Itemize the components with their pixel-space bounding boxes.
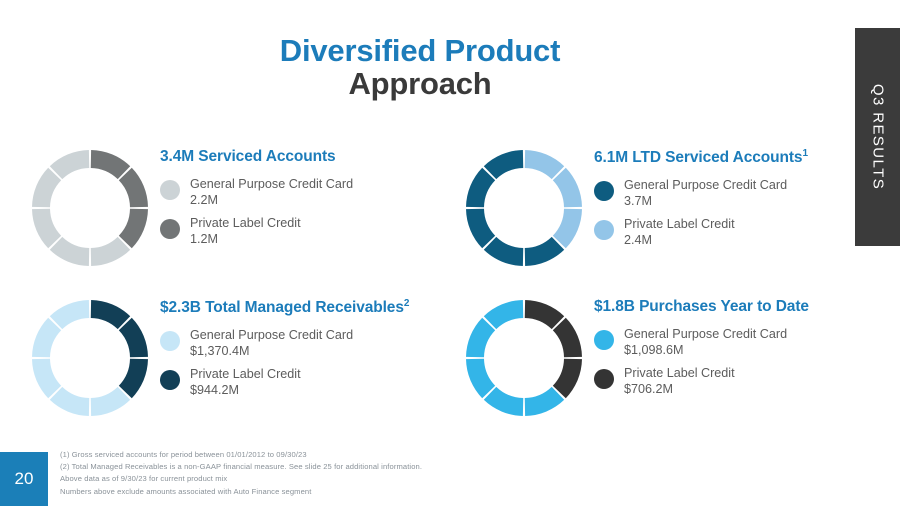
- legend-item: General Purpose Credit Card$1,098.6M: [594, 326, 809, 358]
- donut-segment: [32, 318, 61, 357]
- legend-swatch-icon: [160, 180, 180, 200]
- legend-item: General Purpose Credit Card2.2M: [160, 176, 353, 208]
- legend-item: General Purpose Credit Card3.7M: [594, 177, 808, 209]
- donut-segment: [466, 359, 495, 398]
- footnote-line: (1) Gross serviced accounts for period b…: [60, 449, 422, 461]
- legend-category-label: Private Label Credit: [624, 216, 735, 232]
- legend-text: General Purpose Credit Card$1,370.4M: [190, 327, 353, 359]
- donut-segment: [119, 209, 148, 248]
- legend-category-label: General Purpose Credit Card: [190, 327, 353, 343]
- chart-block-total-managed-receivables: $2.3B Total Managed Receivables2General …: [28, 296, 409, 420]
- legend-text: Private Label Credit2.4M: [624, 216, 735, 248]
- legend-category-label: General Purpose Credit Card: [624, 326, 787, 342]
- legend-swatch-icon: [594, 220, 614, 240]
- donut-segment: [50, 300, 89, 329]
- chart-block-serviced-accounts: 3.4M Serviced AccountsGeneral Purpose Cr…: [28, 146, 353, 270]
- legend-item: Private Label Credit$706.2M: [594, 365, 809, 397]
- chart-heading: $2.3B Total Managed Receivables2: [160, 298, 409, 317]
- donut-segment: [525, 237, 564, 266]
- donut-segment: [553, 359, 582, 398]
- donut-segment: [119, 318, 148, 357]
- footnote-line: Above data as of 9/30/23 for current pro…: [60, 473, 422, 485]
- donut-chart: [462, 296, 586, 420]
- legend-swatch-icon: [160, 331, 180, 351]
- page-number-label: 20: [15, 469, 34, 489]
- legend-value-label: $944.2M: [190, 382, 301, 398]
- donut-segment: [91, 150, 130, 179]
- donut-segment: [525, 300, 564, 329]
- legend-text: General Purpose Credit Card$1,098.6M: [624, 326, 787, 358]
- donut-segment: [91, 387, 130, 416]
- donut-segment: [484, 387, 523, 416]
- legend-value-label: 1.2M: [190, 231, 301, 247]
- donut-chart-wrapper: [28, 296, 152, 420]
- donut-segment: [32, 168, 61, 207]
- legend-text: Private Label Credit$706.2M: [624, 365, 735, 397]
- donut-chart: [28, 296, 152, 420]
- donut-segment: [466, 318, 495, 357]
- chart-heading-footnote-marker: 2: [404, 298, 409, 309]
- chart-heading: 3.4M Serviced Accounts: [160, 148, 353, 166]
- legend-text: General Purpose Credit Card2.2M: [190, 176, 353, 208]
- donut-segment: [553, 168, 582, 207]
- donut-segment: [119, 168, 148, 207]
- chart-info: $2.3B Total Managed Receivables2General …: [160, 296, 409, 406]
- legend-value-label: 2.4M: [624, 232, 735, 248]
- donut-segment: [484, 150, 523, 179]
- legend-item: General Purpose Credit Card$1,370.4M: [160, 327, 409, 359]
- donut-segment: [91, 237, 130, 266]
- legend-text: Private Label Credit$944.2M: [190, 366, 301, 398]
- donut-chart: [28, 146, 152, 270]
- legend-item: Private Label Credit2.4M: [594, 216, 808, 248]
- section-tab-q3-results: Q3 RESULTS: [855, 28, 900, 246]
- chart-block-purchases-ytd: $1.8B Purchases Year to DateGeneral Purp…: [462, 296, 809, 420]
- legend-item: Private Label Credit1.2M: [160, 215, 353, 247]
- page-title-line-1: Diversified Product: [0, 34, 840, 67]
- page-title-line-2: Approach: [0, 67, 840, 100]
- donut-chart-wrapper: [28, 146, 152, 270]
- legend-swatch-icon: [160, 219, 180, 239]
- legend-item: Private Label Credit$944.2M: [160, 366, 409, 398]
- donut-segment: [466, 209, 495, 248]
- legend-text: General Purpose Credit Card3.7M: [624, 177, 787, 209]
- legend-value-label: 2.2M: [190, 192, 353, 208]
- legend-swatch-icon: [594, 369, 614, 389]
- donut-segment: [50, 237, 89, 266]
- legend-category-label: Private Label Credit: [190, 366, 301, 382]
- legend-swatch-icon: [594, 181, 614, 201]
- legend-category-label: General Purpose Credit Card: [190, 176, 353, 192]
- footnote-line: (2) Total Managed Receivables is a non-G…: [60, 461, 422, 473]
- footnote-line: Numbers above exclude amounts associated…: [60, 486, 422, 498]
- donut-segment: [553, 209, 582, 248]
- chart-info: 3.4M Serviced AccountsGeneral Purpose Cr…: [160, 146, 353, 254]
- donut-segment: [484, 300, 523, 329]
- donut-segment: [91, 300, 130, 329]
- page-title: Diversified Product Approach: [0, 34, 840, 101]
- chart-info: 6.1M LTD Serviced Accounts1General Purpo…: [594, 146, 808, 256]
- donut-segment: [484, 237, 523, 266]
- section-tab-label: Q3 RESULTS: [869, 84, 886, 190]
- chart-heading: $1.8B Purchases Year to Date: [594, 298, 809, 316]
- donut-segment: [466, 168, 495, 207]
- donut-segment: [525, 387, 564, 416]
- legend-text: Private Label Credit1.2M: [190, 215, 301, 247]
- donut-segment: [553, 318, 582, 357]
- legend-swatch-icon: [594, 330, 614, 350]
- legend-value-label: $1,370.4M: [190, 343, 353, 359]
- donut-chart-wrapper: [462, 146, 586, 270]
- donut-segment: [50, 150, 89, 179]
- legend-value-label: $706.2M: [624, 381, 735, 397]
- donut-segment: [119, 359, 148, 398]
- chart-heading: 6.1M LTD Serviced Accounts1: [594, 148, 808, 167]
- page-number-badge: 20: [0, 452, 48, 506]
- donut-segment: [525, 150, 564, 179]
- chart-block-ltd-serviced-accounts: 6.1M LTD Serviced Accounts1General Purpo…: [462, 146, 808, 270]
- chart-info: $1.8B Purchases Year to DateGeneral Purp…: [594, 296, 809, 404]
- donut-segment: [32, 209, 61, 248]
- footnotes: (1) Gross serviced accounts for period b…: [60, 449, 422, 499]
- donut-segment: [32, 359, 61, 398]
- legend-category-label: Private Label Credit: [190, 215, 301, 231]
- legend-value-label: 3.7M: [624, 193, 787, 209]
- donut-chart: [462, 146, 586, 270]
- donut-chart-wrapper: [462, 296, 586, 420]
- legend-category-label: Private Label Credit: [624, 365, 735, 381]
- legend-swatch-icon: [160, 370, 180, 390]
- donut-segment: [50, 387, 89, 416]
- chart-heading-footnote-marker: 1: [802, 148, 807, 159]
- legend-value-label: $1,098.6M: [624, 342, 787, 358]
- legend-category-label: General Purpose Credit Card: [624, 177, 787, 193]
